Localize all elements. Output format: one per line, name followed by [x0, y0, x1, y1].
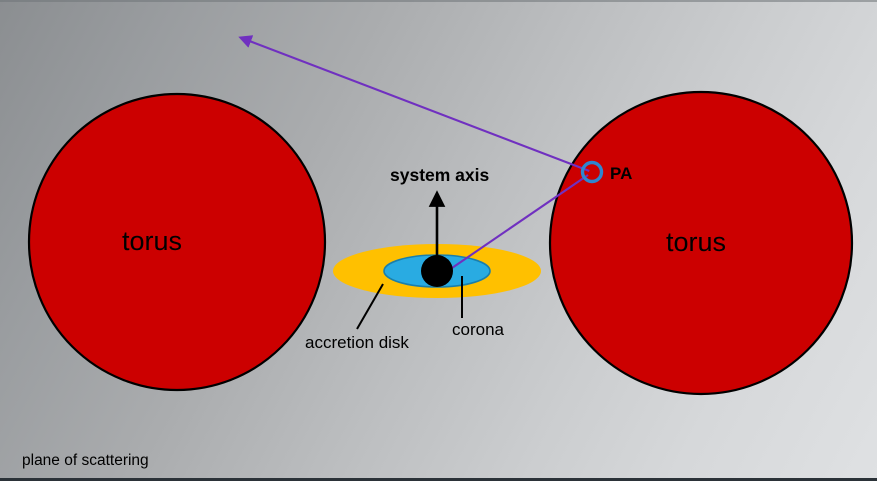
- black-hole-shape: [421, 255, 453, 287]
- pa-label: PA: [610, 165, 632, 182]
- accretion-disk-label: accretion disk: [305, 334, 409, 351]
- corona-label: corona: [452, 321, 504, 338]
- torus-right-label: torus: [666, 229, 726, 256]
- diagram-canvas: torus torus system axis accretion disk c…: [0, 0, 877, 481]
- torus-left-label: torus: [122, 228, 182, 255]
- pa-center-dot-icon: [589, 169, 595, 175]
- system-axis-label: system axis: [390, 167, 489, 185]
- plane-of-scattering-label: plane of scattering: [22, 453, 149, 469]
